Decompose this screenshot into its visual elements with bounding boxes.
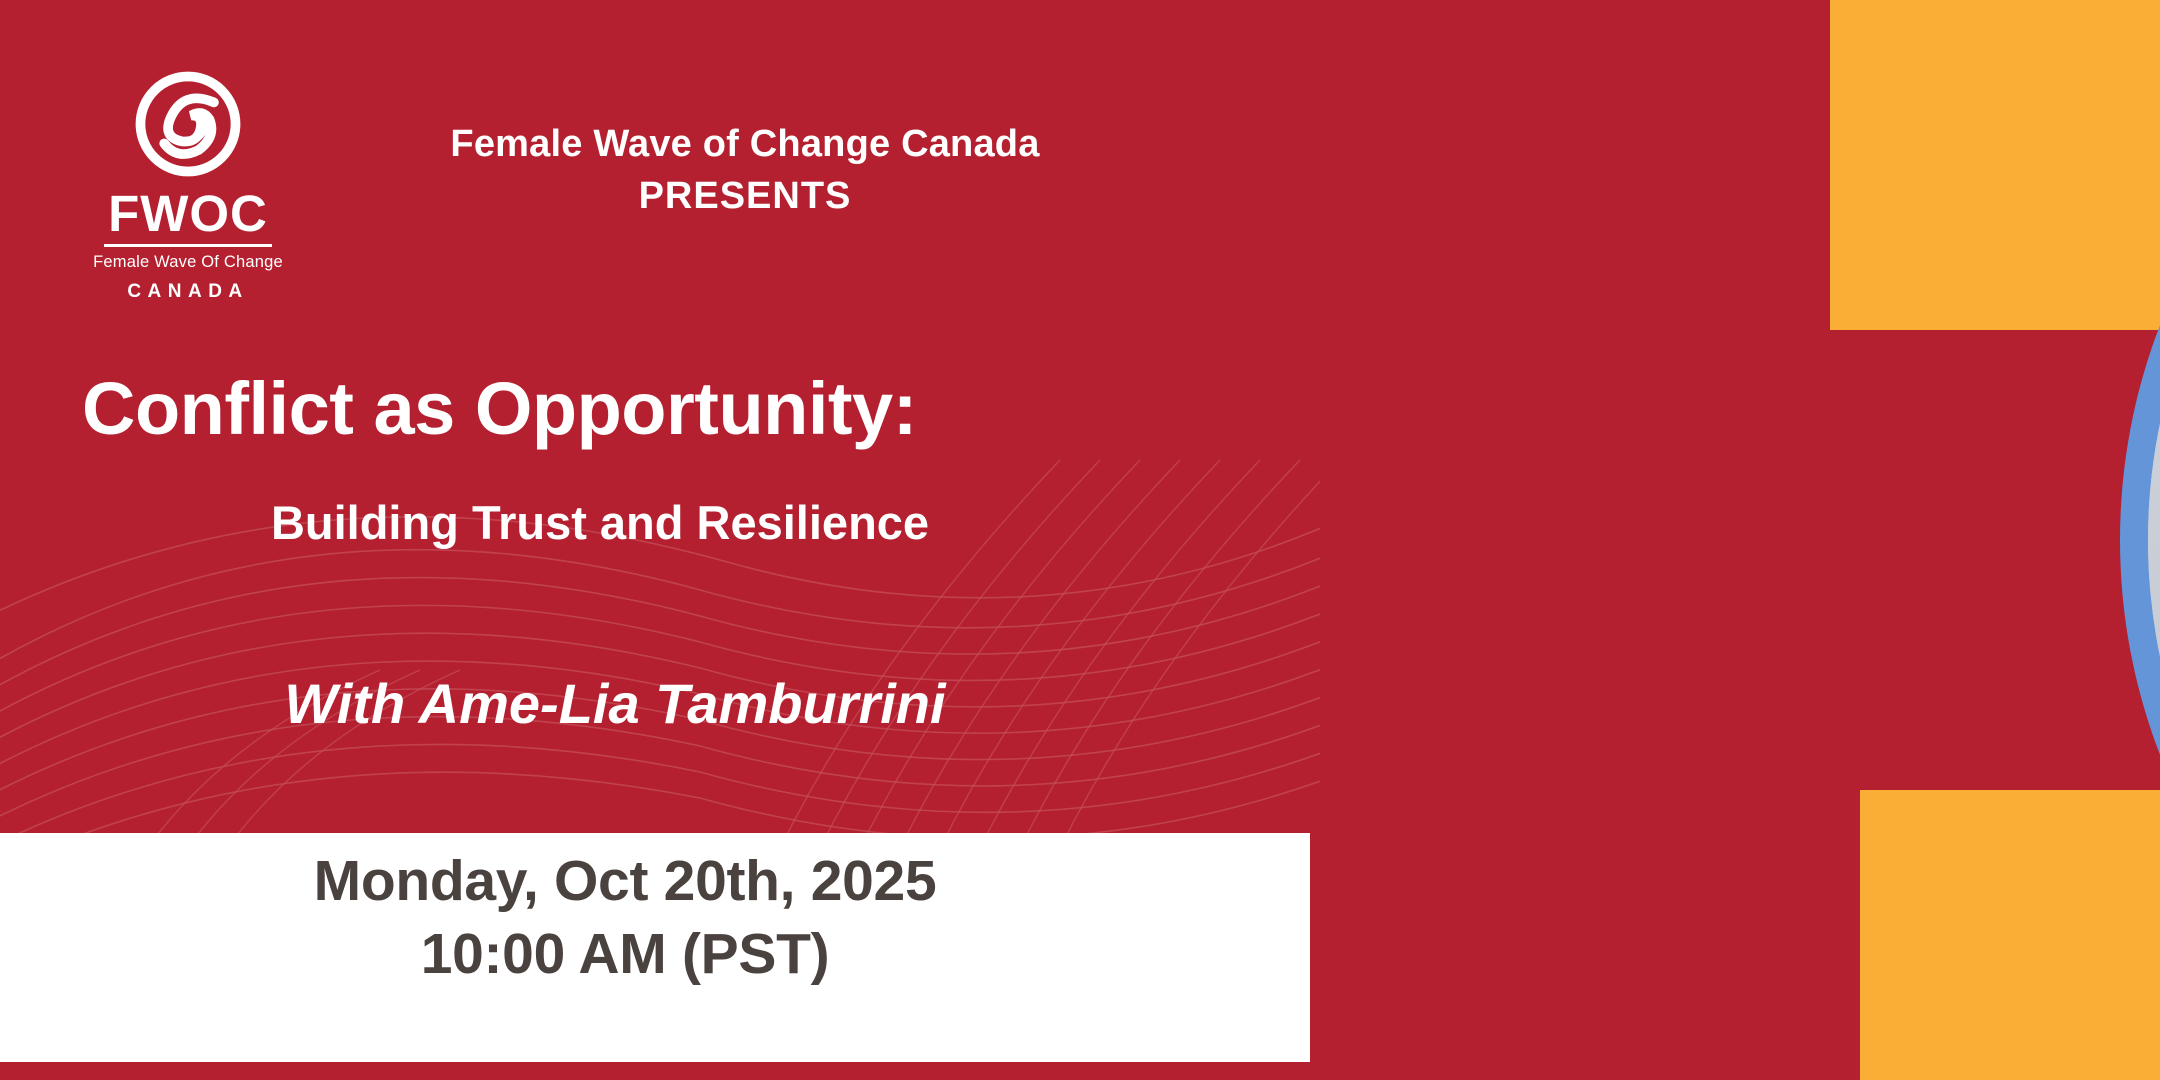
event-time: 10:00 AM (PST) xyxy=(0,918,1250,991)
presenter-header: Female Wave of Change Canada PRESENTS xyxy=(330,118,1160,223)
bottom-red-strip xyxy=(0,1062,1310,1080)
event-banner: FWOC Female Wave Of Change CANADA Female… xyxy=(0,0,2160,1080)
event-title: Conflict as Opportunity: xyxy=(82,368,917,451)
fwoc-logo: FWOC Female Wave Of Change CANADA xyxy=(78,70,298,303)
wave-swirl-logo-icon xyxy=(134,70,242,178)
logo-country: CANADA xyxy=(78,282,298,303)
logo-tagline: Female Wave Of Change xyxy=(78,253,298,271)
orange-accent-top-right xyxy=(1830,0,2160,330)
event-subtitle: Building Trust and Resilience xyxy=(0,495,1200,551)
speaker-name: With Ame-Lia Tamburrini xyxy=(0,670,1230,737)
event-date: Monday, Oct 20th, 2025 xyxy=(0,845,1250,918)
organization-name: Female Wave of Change Canada xyxy=(330,118,1160,170)
orange-accent-bottom-right xyxy=(1860,790,2160,1080)
event-datetime: Monday, Oct 20th, 2025 10:00 AM (PST) xyxy=(0,845,1250,991)
logo-divider xyxy=(104,244,272,247)
logo-wordmark: FWOC xyxy=(78,188,298,239)
presents-label: PRESENTS xyxy=(330,170,1160,222)
